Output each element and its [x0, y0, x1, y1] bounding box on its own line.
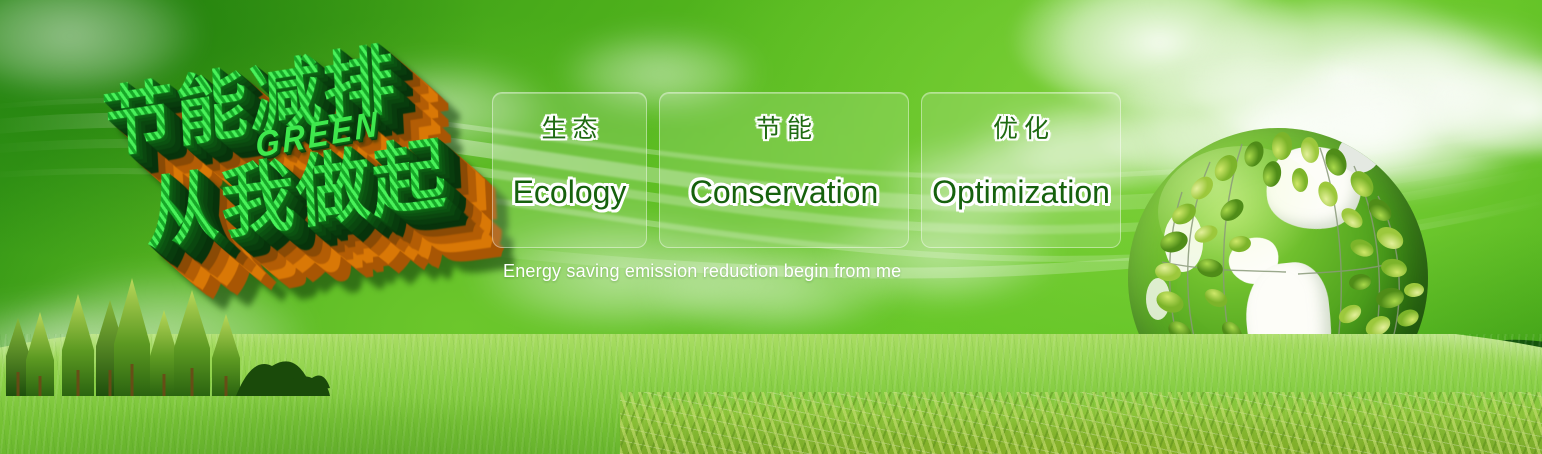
slogan-logo: 节能减排 GREEN 从我做起 — [90, 26, 501, 277]
feature-card-optimization-cn: 优化 — [987, 117, 1055, 142]
feature-card-conservation-en: Conservation — [690, 176, 879, 208]
feature-card-optimization-en: Optimization — [932, 176, 1110, 208]
pine-trees-icon — [0, 260, 330, 396]
leaf-litter — [620, 392, 1542, 454]
feature-cards: 生态 Ecology 节能 Conservation 优化 Optimizati… — [492, 92, 1121, 248]
feature-card-ecology-cn: 生态 — [535, 117, 603, 142]
globe-highlight — [1158, 146, 1326, 278]
continent-greenland — [1338, 134, 1380, 173]
green-energy-banner: 节能减排 GREEN 从我做起 生态 Ecology 节能 Conservati… — [0, 0, 1542, 454]
feature-card-conservation[interactable]: 节能 Conservation — [659, 92, 909, 248]
feature-card-ecology[interactable]: 生态 Ecology — [492, 92, 647, 248]
banner-tagline: Energy saving emission reduction begin f… — [503, 261, 901, 282]
leaf-litter-texture — [620, 392, 1542, 454]
continent-west-edge-small — [1146, 278, 1170, 320]
feature-card-conservation-cn: 节能 — [750, 117, 818, 142]
feature-card-optimization[interactable]: 优化 Optimization — [921, 92, 1121, 248]
feature-card-ecology-en: Ecology — [513, 176, 627, 208]
